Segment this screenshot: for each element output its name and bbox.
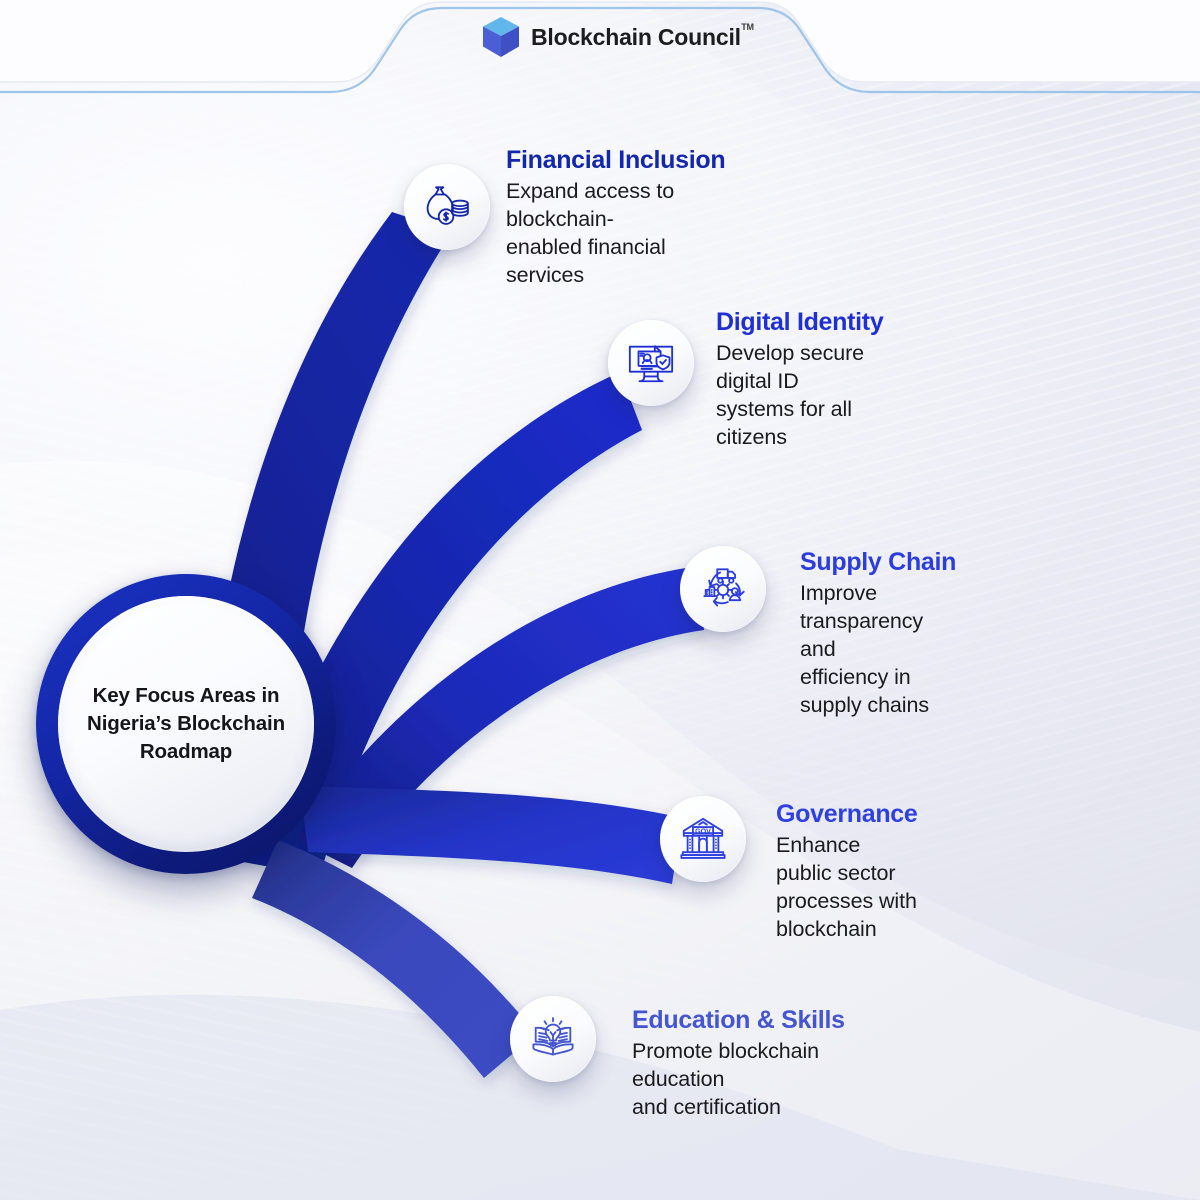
digital-identity-title: Digital Identity [716, 308, 883, 336]
desc-line: Enhance public sector [776, 832, 918, 888]
trademark-mark: TM [741, 22, 754, 32]
desc-line: systems for all citizens [716, 396, 883, 452]
supply-chain-cycle-icon [698, 564, 748, 614]
digital-identity-desc: Develop secure digital ID systems for al… [716, 340, 883, 452]
education-skills-desc: Promote blockchain education and certifi… [632, 1038, 845, 1122]
governance-title: Governance [776, 800, 918, 828]
brand-name-wrap: Blockchain Council TM [531, 24, 741, 51]
ribbon-education-skills [252, 840, 536, 1078]
brand-logo[interactable]: Blockchain Council TM [482, 16, 741, 58]
education-skills-title: Education & Skills [632, 1006, 845, 1034]
digital-identity-text: Digital Identity Develop secure digital … [716, 308, 883, 452]
desc-line: efficiency in supply chains [800, 664, 956, 720]
desc-line: Promote blockchain education [632, 1038, 845, 1094]
book-lightbulb-icon [528, 1014, 578, 1064]
financial-inclusion-title: Financial Inclusion [506, 146, 725, 174]
desc-line: processes with blockchain [776, 888, 918, 944]
infographic-canvas: Blockchain Council TM [0, 0, 1200, 1200]
brand-name: Blockchain Council [531, 24, 741, 50]
money-bag-coins-icon [422, 182, 472, 232]
financial-inclusion-desc: Expand access to blockchain- enabled fin… [506, 178, 725, 290]
supply-chain-title: Supply Chain [800, 548, 956, 576]
governance-icon-badge[interactable]: GOV [660, 796, 746, 882]
digital-identity-icon-badge[interactable] [608, 320, 694, 406]
monitor-id-shield-icon [626, 338, 676, 388]
svg-text:GOV: GOV [695, 828, 711, 836]
desc-line: and certification [632, 1094, 845, 1122]
hub-inner-circle: Key Focus Areas in Nigeria’s Blockchain … [58, 596, 314, 852]
financial-inclusion-icon-badge[interactable] [404, 164, 490, 250]
ribbon-governance [300, 786, 682, 884]
supply-chain-text: Supply Chain Improve transparency and ef… [800, 548, 956, 720]
education-skills-icon-badge[interactable] [510, 996, 596, 1082]
education-skills-text: Education & Skills Promote blockchain ed… [632, 1006, 845, 1122]
desc-line: Expand access to blockchain- [506, 178, 725, 234]
hub-title: Key Focus Areas in Nigeria’s Blockchain … [58, 682, 314, 767]
governance-text: Governance Enhance public sector process… [776, 800, 918, 944]
governance-desc: Enhance public sector processes with blo… [776, 832, 918, 944]
government-building-icon: GOV [678, 814, 728, 864]
financial-inclusion-text: Financial Inclusion Expand access to blo… [506, 146, 725, 290]
supply-chain-desc: Improve transparency and efficiency in s… [800, 580, 956, 720]
central-hub: Key Focus Areas in Nigeria’s Blockchain … [36, 574, 336, 874]
supply-chain-icon-badge[interactable] [680, 546, 766, 632]
blockchain-cube-icon [482, 16, 520, 58]
desc-line: enabled financial services [506, 234, 725, 290]
desc-line: Improve transparency and [800, 580, 956, 664]
desc-line: Develop secure digital ID [716, 340, 883, 396]
